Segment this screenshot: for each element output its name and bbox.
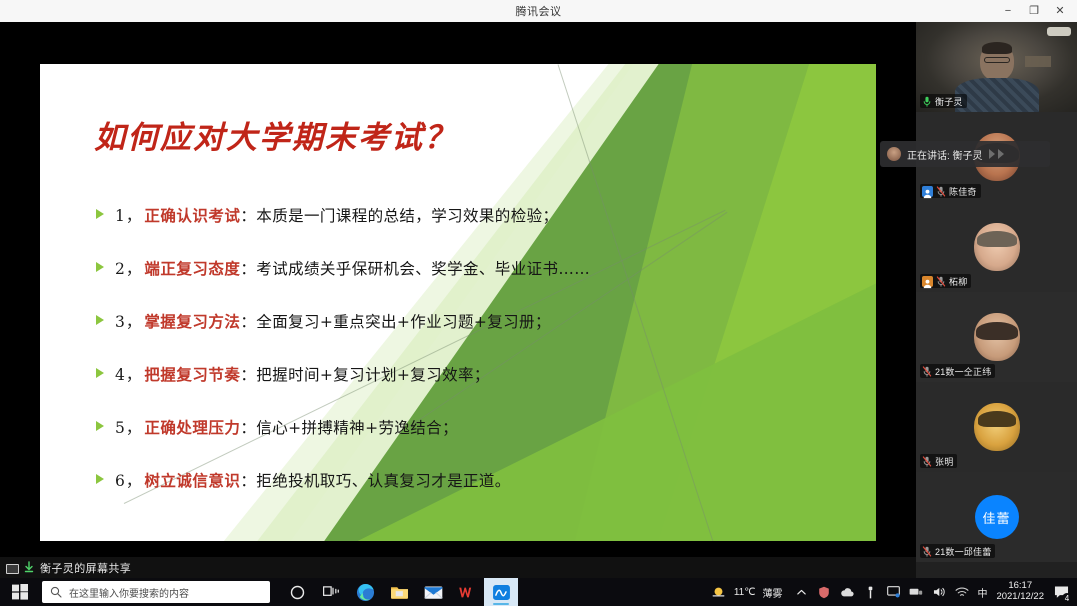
- bullet-keyword: 正确处理压力: [144, 416, 240, 438]
- video-off-icon: [922, 276, 933, 287]
- slide-bullet-list: 1， 正确认识考试 ：本质是一门课程的总结，学习效果的检验； 2， 端正复习态度…: [96, 204, 796, 522]
- monitor-icon: [6, 564, 19, 574]
- participant-tile-5[interactable]: 佳蕾 21数一邱佳蕾: [916, 472, 1077, 562]
- participant-name: 21数一邱佳蕾: [935, 545, 991, 558]
- participant-name: 衡子灵: [935, 95, 963, 108]
- windows-taskbar[interactable]: 在这里输入你要搜索的内容: [0, 578, 1077, 606]
- participant-name-bar: 柘柳: [920, 274, 971, 288]
- participant-video-rail[interactable]: 衡子灵 陈佳奇: [916, 22, 1077, 578]
- participant-name-bar: 陈佳奇: [920, 184, 981, 198]
- active-speaker-toast: 正在讲话: 衡子灵: [880, 141, 1050, 167]
- participant-name: 陈佳奇: [949, 185, 977, 198]
- bullet-number: 5，: [115, 416, 142, 438]
- mail-icon[interactable]: [416, 578, 450, 606]
- bullet-text: ：信心+拼搏精神+劳逸结合；: [240, 416, 458, 438]
- participant-name-bar: 21数一仝正纬: [920, 364, 995, 378]
- participant-tile-0[interactable]: 衡子灵: [916, 22, 1077, 112]
- screen-share-status-text: 衡子灵的屏幕共享: [40, 560, 131, 576]
- microphone-muted-icon: [922, 366, 932, 377]
- bullet-text: ：考试成绩关乎保研机会、奖学金、毕业证书……: [240, 257, 590, 279]
- weather-description: 薄雾: [762, 585, 782, 600]
- triangle-bullet-icon: [96, 368, 104, 378]
- bullet-keyword: 树立诚信意识: [144, 469, 240, 491]
- clock-date: 2021/12/22: [996, 592, 1044, 603]
- bullet-number: 3，: [115, 310, 142, 332]
- usb-device-icon[interactable]: [862, 584, 878, 600]
- onedrive-cloud-icon[interactable]: [839, 584, 855, 600]
- download-arrow-icon: [23, 561, 36, 574]
- participant-name-bar: 张明: [920, 454, 957, 468]
- participant-tile-2[interactable]: 柘柳: [916, 202, 1077, 292]
- avatar-initials: 佳蕾: [982, 508, 1010, 527]
- triangle-bullet-icon: [96, 262, 104, 272]
- file-explorer-icon[interactable]: [382, 578, 416, 606]
- microphone-muted-icon: [936, 276, 946, 287]
- ime-indicator[interactable]: 中: [977, 585, 987, 600]
- list-item: 5， 正确处理压力 ：信心+拼搏精神+劳逸结合；: [96, 416, 796, 438]
- screen-share-status-bar: 衡子灵的屏幕共享: [0, 557, 916, 578]
- list-item: 1， 正确认识考试 ：本质是一门课程的总结，学习效果的检验；: [96, 204, 796, 226]
- chevron-right-icon: [998, 149, 1004, 159]
- bullet-keyword: 端正复习态度: [144, 257, 240, 279]
- network-icon[interactable]: [908, 584, 924, 600]
- triangle-bullet-icon: [96, 421, 104, 431]
- participant-name: 柘柳: [949, 275, 967, 288]
- edge-icon[interactable]: [348, 578, 382, 606]
- triangle-bullet-icon: [96, 474, 104, 484]
- list-item: 4， 把握复习节奏 ：把握时间+复习计划+复习效率；: [96, 363, 796, 385]
- list-item: 2， 端正复习态度 ：考试成绩关乎保研机会、奖学金、毕业证书……: [96, 257, 796, 279]
- bullet-number: 1，: [115, 204, 142, 226]
- task-view-icon[interactable]: [314, 578, 348, 606]
- bullet-number: 6，: [115, 469, 142, 491]
- list-item: 6， 树立诚信意识 ：拒绝投机取巧、认真复习才是正道。: [96, 469, 796, 491]
- volume-icon[interactable]: [931, 584, 947, 600]
- chevron-right-icon: [989, 149, 995, 159]
- bullet-keyword: 掌握复习方法: [144, 310, 240, 332]
- wifi-icon[interactable]: [954, 584, 970, 600]
- meeting-window-body: 如何应对大学期末考试？ 1， 正确认识考试 ：本质是一门课程的总结，学习效果的检…: [0, 22, 1077, 578]
- window-controls: − ❐ ✕: [995, 0, 1073, 22]
- bullet-text: ：本质是一门课程的总结，学习效果的检验；: [240, 204, 558, 226]
- windows-logo-icon: [12, 584, 28, 600]
- taskbar-clock[interactable]: 16:17 2021/12/22: [996, 581, 1044, 603]
- maximize-button[interactable]: ❐: [1021, 0, 1047, 22]
- system-tray[interactable]: 11℃ 薄雾 中 16:17 2021/12/22: [711, 578, 1077, 606]
- notification-center-button[interactable]: 4: [1051, 582, 1071, 602]
- participant-tile-3[interactable]: 21数一仝正纬: [916, 292, 1077, 382]
- participant-name-bar: 21数一邱佳蕾: [920, 544, 995, 558]
- microphone-muted-icon: [936, 186, 946, 197]
- bullet-number: 2，: [115, 257, 142, 279]
- bullet-text: ：把握时间+复习计划+复习效率；: [240, 363, 489, 385]
- bullet-keyword: 把握复习节奏: [144, 363, 240, 385]
- search-icon: [50, 586, 62, 598]
- display-settings-icon[interactable]: [885, 584, 901, 600]
- bullet-text: ：全面复习+重点突出+作业习题+复习册；: [240, 310, 550, 332]
- close-button[interactable]: ✕: [1047, 0, 1073, 22]
- tencent-meeting-icon[interactable]: [484, 578, 518, 606]
- bullet-text: ：拒绝投机取巧、认真复习才是正道。: [240, 469, 510, 491]
- shared-screen-frame: 如何应对大学期末考试？ 1， 正确认识考试 ：本质是一门课程的总结，学习效果的检…: [40, 22, 876, 557]
- bullet-keyword: 正确认识考试: [144, 204, 240, 226]
- microphone-muted-icon: [922, 456, 932, 467]
- microphone-icon: [922, 96, 932, 107]
- notification-badge: 4: [1062, 593, 1072, 603]
- bullet-number: 4，: [115, 363, 142, 385]
- wps-icon[interactable]: [450, 578, 484, 606]
- avatar: 佳蕾: [975, 495, 1019, 539]
- microphone-muted-icon: [922, 546, 932, 557]
- cortana-icon[interactable]: [280, 578, 314, 606]
- speaker-avatar-icon: [887, 147, 901, 161]
- participant-name-bar: 衡子灵: [920, 94, 967, 108]
- window-title: 腾讯会议: [516, 3, 562, 19]
- weather-temperature: 11℃: [734, 587, 756, 598]
- start-button[interactable]: [0, 578, 40, 606]
- search-placeholder: 在这里输入你要搜索的内容: [69, 585, 189, 600]
- window-title-bar: 腾讯会议 − ❐ ✕: [0, 0, 1077, 22]
- participant-name: 张明: [935, 455, 953, 468]
- slide-title: 如何应对大学期末考试？: [94, 112, 457, 157]
- active-speaker-text: 正在讲话: 衡子灵: [907, 147, 983, 162]
- triangle-bullet-icon: [96, 209, 104, 219]
- presentation-slide: 如何应对大学期末考试？ 1， 正确认识考试 ：本质是一门课程的总结，学习效果的检…: [40, 64, 876, 541]
- list-item: 3， 掌握复习方法 ：全面复习+重点突出+作业习题+复习册；: [96, 310, 796, 332]
- show-hidden-icons-chevron-icon[interactable]: [793, 584, 809, 600]
- triangle-bullet-icon: [96, 315, 104, 325]
- search-input[interactable]: 在这里输入你要搜索的内容: [42, 581, 270, 603]
- participant-tile-4[interactable]: 张明: [916, 382, 1077, 472]
- participant-name: 21数一仝正纬: [935, 365, 991, 378]
- shared-screen-area[interactable]: 如何应对大学期末考试？ 1， 正确认识考试 ：本质是一门课程的总结，学习效果的检…: [0, 22, 916, 578]
- minimize-button[interactable]: −: [995, 0, 1021, 22]
- weather-icon: [711, 584, 727, 600]
- safety-shield-icon[interactable]: [816, 584, 832, 600]
- video-off-icon: [922, 186, 933, 197]
